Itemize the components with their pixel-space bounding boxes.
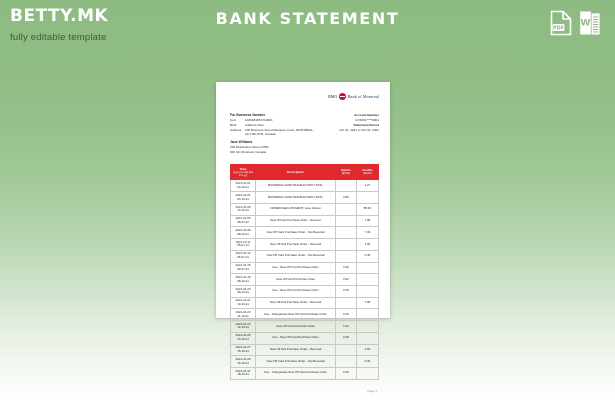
cell-date-secondary: 05-07-02 (232, 221, 254, 225)
cell-credit (356, 321, 378, 333)
cell-date: 2021-10-2514-10-21 (231, 332, 256, 344)
table-row: 2021-10-2916-10-21New Off Card Purchase … (231, 356, 379, 368)
column-header-date-sub: (yyyy-mm-dd) (dd-mm-yy) (232, 171, 254, 178)
cell-date-secondary: 04-10-21 (232, 198, 254, 202)
cell-date: 2021-10-2009-10-21 (231, 285, 256, 297)
cell-date-secondary: 18-10-21 (232, 373, 254, 377)
cell-date-secondary: 06-07-21 (232, 256, 254, 260)
column-header-debits-sub: ($CAD) (337, 172, 355, 175)
table-row: 2021-10-2514-10-21Fee - New Off Card Pur… (231, 332, 379, 344)
business-info-block: For Business Number Cert 104648185 RC000… (230, 113, 316, 155)
cell-date: 2021-10-1306-07-21 (231, 250, 256, 262)
cell-date: 2021-10-2311-10-21 (231, 309, 256, 321)
cell-date-secondary: 08-10-21 (232, 233, 254, 237)
cell-debit: 0.92 (336, 274, 357, 286)
cell-date: 2021-10-1502-07-21 (231, 262, 256, 274)
cell-date: 2021-10-1808-10-21 (231, 274, 256, 286)
cell-credit: 7.98 (356, 297, 378, 309)
cell-credit (356, 367, 378, 379)
cell-date: 2021-10-2412-10-21 (231, 321, 256, 333)
cell-date-secondary: 04-10-21 (232, 186, 254, 190)
table-row: 2021-10-2311-10-21Fee - Chargeback New O… (231, 309, 379, 321)
cell-credit (356, 285, 378, 297)
cell-date-secondary: 02-07-21 (232, 268, 254, 272)
cell-date: 2021-10-0808-10-21 (231, 227, 256, 239)
cell-credit: 0.45 (356, 250, 378, 262)
column-header-date: Date (yyyy-mm-dd) (dd-mm-yy) (231, 164, 256, 180)
page-header: BETTY.MK fully editable template BANK ST… (0, 0, 615, 52)
column-header-debits: Debits ($CAD) (336, 164, 357, 180)
cell-description: New Off Deli Purchase Order - Removal (256, 344, 336, 356)
cell-credit: 85.00 (356, 203, 378, 215)
bank-logo: BMO Bank of Montreal (230, 92, 379, 101)
cell-credit: 0.36 (356, 356, 378, 368)
cell-description: New Off Card Purchase Order - Not Revers… (256, 227, 336, 239)
table-header-row: Date (yyyy-mm-dd) (dd-mm-yy) Description… (231, 164, 379, 180)
cell-date-secondary: 14-10-21 (232, 209, 254, 213)
cell-date: 2021-10-2110-10-21 (231, 297, 256, 309)
cell-credit (356, 309, 378, 321)
cell-debit (336, 227, 357, 239)
column-header-description: Description (256, 164, 336, 180)
cell-description: New Off Card Purchase Order (256, 321, 336, 333)
cell-debit: 0.49 (336, 262, 357, 274)
cell-date: 2021-10-2715-10-21 (231, 344, 256, 356)
cell-credit (356, 262, 378, 274)
statement-meta: For Business Number Cert 104648185 RC000… (230, 113, 379, 155)
table-row: 2021-10-0514-10-21ORDER FEES PAYMENT, Ja… (231, 203, 379, 215)
cell-debit (336, 180, 357, 192)
cell-date-secondary: 15-10-21 (232, 350, 254, 354)
table-row: 2021-10-2110-10-21New Off Deli Purchase … (231, 297, 379, 309)
cell-debit (336, 344, 357, 356)
cell-debit (336, 297, 357, 309)
page-footer: Page 1 (230, 389, 379, 393)
cell-debit (336, 239, 357, 251)
cell-debit: 0.28 (336, 332, 357, 344)
cell-description: Fee - Chargeback New Off Card Purchase O… (256, 367, 336, 379)
cell-credit: 1.27 (356, 180, 378, 192)
table-row: 2021-10-2715-10-21New Off Deli Purchase … (231, 344, 379, 356)
cell-description: Fee - New Off Card Purchase Order (256, 262, 336, 274)
cell-credit (356, 332, 378, 344)
cell-debit (336, 215, 357, 227)
cell-date: 2021-10-3118-10-21 (231, 367, 256, 379)
table-row: 2021-10-0104-10-21BUSINESS CARD TRANSACT… (231, 192, 379, 204)
cell-credit: 1.09 (356, 344, 378, 356)
statement-period-value: Oct 01, 2021 to Oct 31, 2021 (319, 128, 379, 133)
cell-description: Fee - New Off Card Purchase Order (256, 332, 336, 344)
cell-date-secondary: 10-10-21 (232, 303, 254, 307)
bank-logo-prefix: BMO (328, 94, 337, 99)
page-title: BANK STATEMENT (0, 9, 615, 28)
cell-date: 2021-10-2916-10-21 (231, 356, 256, 368)
table-row: 2021-10-0808-10-21New Off Card Purchase … (231, 227, 379, 239)
cell-date-secondary: 09-10-21 (232, 291, 254, 295)
cell-description: New Off Card Purchase Order (256, 274, 336, 286)
table-row: 2021-10-1502-07-21Fee - New Off Card Pur… (231, 262, 379, 274)
table-row: 2021-10-0505-07-02New Off Deli Purchase … (231, 215, 379, 227)
cell-description: BUSINESS CARD TRANSACTION TOTAL (256, 192, 336, 204)
word-format-icon[interactable]: W (579, 10, 601, 36)
statement-content: BMO Bank of Montreal For Business Number… (230, 92, 379, 310)
transactions-table: Date (yyyy-mm-dd) (dd-mm-yy) Description… (230, 164, 379, 380)
cell-debit: 0.25 (336, 285, 357, 297)
account-info-block: Account Number 24 5600 ****0001 Statemen… (319, 113, 379, 155)
column-header-date-title: Date (240, 167, 247, 171)
svg-text:W: W (581, 19, 591, 29)
cell-date: 2021-10-0505-07-02 (231, 215, 256, 227)
cell-debit: 0.86 (336, 192, 357, 204)
column-header-credits-sub: ($CAD) (358, 172, 377, 175)
cell-description: New Off Card Purchase Order - Not Revers… (256, 356, 336, 368)
cell-date: 2021-10-0104-10-21 (231, 180, 256, 192)
svg-text:PDF: PDF (553, 26, 564, 32)
pdf-format-icon[interactable]: PDF (550, 10, 572, 36)
cell-description: ORDER FEES PAYMENT, Jane Gibson (256, 203, 336, 215)
cell-debit (336, 250, 357, 262)
cell-date: 2021-10-0104-10-21 (231, 192, 256, 204)
cell-description: New Off Deli Purchase Order - Remove (256, 215, 336, 227)
transactions-table-head: Date (yyyy-mm-dd) (dd-mm-yy) Description… (231, 164, 379, 180)
cell-credit (356, 192, 378, 204)
cell-date-secondary: 16-10-21 (232, 362, 254, 366)
table-row: 2021-10-1105-07-21New Off Deli Purchase … (231, 239, 379, 251)
table-row: 2021-10-1306-07-21New Off Card Purchase … (231, 250, 379, 262)
cell-debit (336, 356, 357, 368)
cell-credit: 1.09 (356, 239, 378, 251)
format-icon-group: PDF W (550, 10, 601, 36)
cell-description: New Off Deli Purchase Order - Removal (256, 297, 336, 309)
table-row: 2021-10-1808-10-21New Off Card Purchase … (231, 274, 379, 286)
transactions-table-body: 2021-10-0104-10-21BUSINESS CARD TRANSACT… (231, 180, 379, 379)
cell-date-secondary: 08-10-21 (232, 280, 254, 284)
table-row: 2021-10-2412-10-21New Off Card Purchase … (231, 321, 379, 333)
cell-date-secondary: 14-10-21 (232, 338, 254, 342)
customer-address-line: Mtrl QC Montreal, Canada (230, 150, 316, 155)
bank-logo-name: Bank of Montreal (348, 94, 379, 99)
column-header-description-title: Description (287, 170, 304, 174)
table-row: 2021-10-3118-10-21Fee - Chargeback New O… (231, 367, 379, 379)
column-header-credits: Credits ($CAD) (356, 164, 378, 180)
cell-description: New Off Card Purchase Order - Not Revers… (256, 250, 336, 262)
cell-debit (336, 203, 357, 215)
cell-debit: 1.02 (336, 321, 357, 333)
business-row-value: 100 Business Street Marquee Court, MONTR… (245, 128, 316, 138)
table-row: 2021-10-0104-10-21BUSINESS CARD TRANSACT… (231, 180, 379, 192)
bmo-roundel-icon (339, 93, 346, 100)
cell-description: Fee - New Off Card Purchase Order (256, 285, 336, 297)
cell-debit: 0.25 (336, 367, 357, 379)
statement-page-preview[interactable]: BMO Bank of Montreal For Business Number… (216, 82, 390, 318)
brand-tagline: fully editable template (10, 33, 108, 43)
cell-credit: 7.98 (356, 215, 378, 227)
cell-description: Fee - Chargeback New Off Card Purchase O… (256, 309, 336, 321)
business-row: Address 100 Business Street Marquee Cour… (230, 128, 316, 138)
cell-description: New Off Deli Purchase Order - Removal (256, 239, 336, 251)
cell-date-secondary: 05-07-21 (232, 244, 254, 248)
cell-date: 2021-10-1105-07-21 (231, 239, 256, 251)
cell-date-secondary: 12-10-21 (232, 326, 254, 330)
cell-date: 2021-10-0514-10-21 (231, 203, 256, 215)
cell-date-secondary: 11-10-21 (232, 315, 254, 319)
table-row: 2021-10-2009-10-21Fee - New Off Card Pur… (231, 285, 379, 297)
cell-debit: 0.25 (336, 309, 357, 321)
cell-description: BUSINESS CARD TRANSACTION TOTAL (256, 180, 336, 192)
cell-credit: 7.09 (356, 227, 378, 239)
business-row-key: Address (230, 128, 242, 138)
cell-credit (356, 274, 378, 286)
